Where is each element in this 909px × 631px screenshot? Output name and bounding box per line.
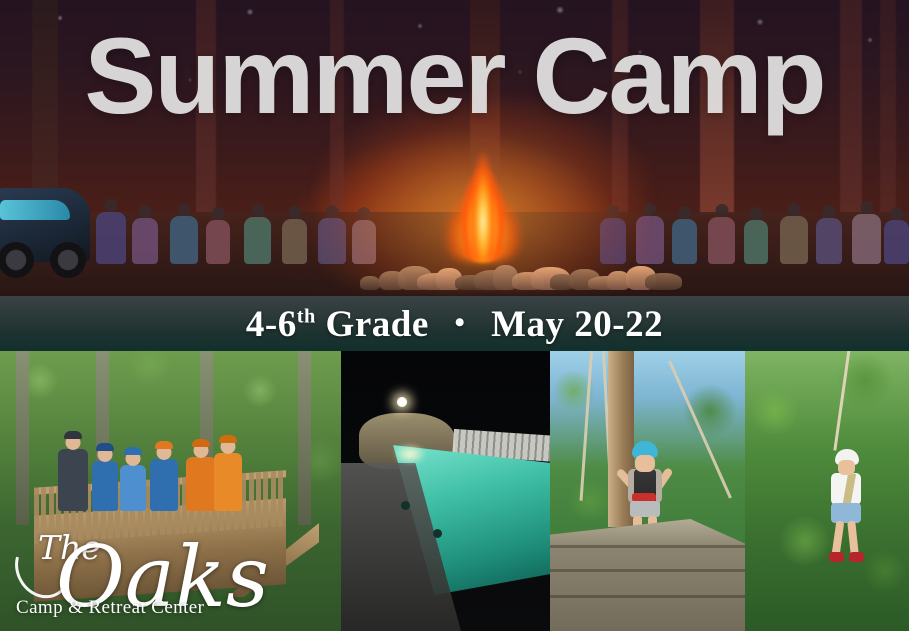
- photo-zipline-tower-boy: [550, 351, 745, 631]
- tree-trunk: [298, 351, 311, 525]
- fire-ring-stones: [360, 250, 660, 290]
- stone: [360, 276, 380, 290]
- seated-camper: [852, 214, 881, 264]
- seated-camper: [708, 217, 735, 264]
- grade-number: 4-6: [246, 304, 297, 345]
- photo-night-pool: [341, 351, 550, 631]
- seated-camper: [780, 216, 808, 264]
- camper: [214, 453, 242, 511]
- seated-camper: [884, 220, 909, 264]
- camp-dates: May 20-22: [491, 304, 663, 345]
- hero-campfire-photo: Summer Camp: [0, 0, 909, 298]
- seated-camper: [672, 219, 697, 264]
- bullet-separator-icon: •: [439, 307, 482, 340]
- summer-camp-poster: Summer Camp 4-6th Grade • May 20-22: [0, 0, 909, 631]
- light-flare-icon: [397, 397, 407, 407]
- seated-camper: [816, 218, 842, 264]
- seated-camper: [132, 218, 158, 264]
- swimmer: [433, 529, 442, 538]
- details-bar-text: 4-6th Grade • May 20-22: [246, 303, 663, 346]
- shoe: [829, 552, 844, 562]
- seated-camper: [96, 212, 126, 264]
- camper: [92, 461, 118, 511]
- utv-vehicle: [0, 188, 90, 262]
- grade-word: Grade: [326, 304, 429, 345]
- wooden-platform: [550, 519, 745, 631]
- seated-camper: [282, 219, 307, 264]
- seated-camper: [170, 216, 198, 264]
- camper: [150, 459, 178, 511]
- camper-on-zipline: [823, 449, 863, 565]
- camper: [120, 465, 146, 511]
- tree-trunk: [16, 351, 29, 525]
- page-title: Summer Camp: [0, 22, 909, 130]
- swimmer: [401, 501, 410, 510]
- seated-camper: [244, 217, 271, 264]
- logo-tagline: Camp & Retreat Center: [16, 597, 204, 619]
- camper-on-platform: [628, 443, 662, 527]
- seated-camper: [206, 220, 230, 264]
- camper: [58, 449, 88, 511]
- pool-light: [393, 443, 427, 465]
- shoe: [849, 552, 864, 562]
- grade-ordinal: th: [297, 305, 316, 327]
- details-bar: 4-6th Grade • May 20-22: [0, 296, 909, 352]
- camper: [186, 457, 216, 511]
- photo-zipline-girl: [745, 351, 909, 631]
- stone: [645, 273, 682, 290]
- the-oaks-logo: The Oaks Camp & Retreat Center: [10, 515, 210, 625]
- seated-camper: [744, 220, 768, 264]
